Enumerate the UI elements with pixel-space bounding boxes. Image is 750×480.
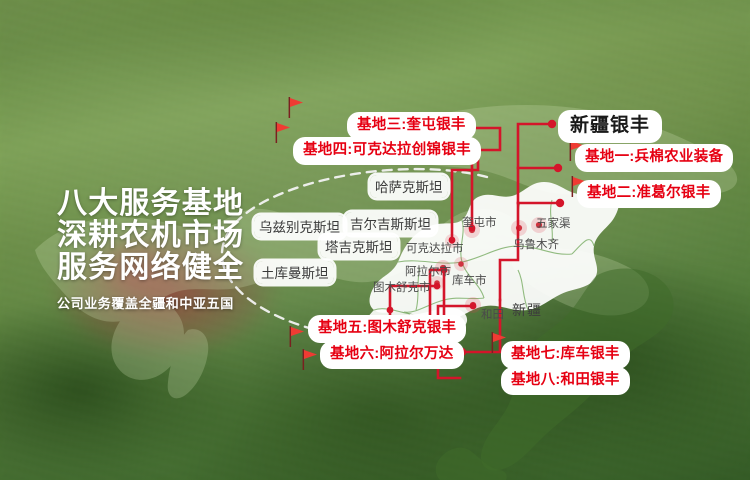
brand-root-label[interactable]: 新疆银丰 — [561, 113, 659, 140]
city-label-kuche: 库车市 — [452, 272, 487, 288]
base-label-base-3[interactable]: 基地三:奎屯银丰 — [350, 115, 473, 137]
city-label-kokdala: 可克达拉市 — [406, 240, 464, 256]
base-label-base-6[interactable]: 基地六:阿拉尔万达 — [323, 344, 461, 366]
city-label-tumxuk: 图木舒克市 — [373, 279, 431, 295]
base-label-base-5[interactable]: 基地五:图木舒克银丰 — [311, 318, 463, 340]
flag-icon — [273, 121, 291, 143]
base-label-base-8[interactable]: 基地八:和田银丰 — [504, 370, 627, 392]
city-label-hotan: 和田 — [481, 306, 504, 322]
city-label-kuitun: 奎屯市 — [462, 214, 497, 230]
headline-line-3: 服务网络健全 — [57, 252, 244, 284]
base-label-base-7[interactable]: 基地七:库车银丰 — [504, 344, 627, 366]
headline-line-2: 深耕农机市场 — [57, 220, 244, 252]
flag-icon — [300, 348, 318, 370]
base-label-base-1[interactable]: 基地一:兵棉农业装备 — [578, 147, 730, 169]
base-label-base-4[interactable]: 基地四:可克达拉创锦银丰 — [296, 140, 478, 162]
base-label-base-2[interactable]: 基地二:准葛尔银丰 — [580, 183, 718, 205]
infographic-canvas: 八大服务基地 深耕农机市场 服务网络健全 公司业务覆盖全疆和中亚五国 新疆银丰 … — [0, 0, 750, 480]
city-label-urumqi: 乌鲁木齐 — [513, 236, 559, 252]
region-label-xinjiang: 新疆 — [512, 300, 542, 320]
country-label-kazakhstan: 哈萨克斯坦 — [370, 175, 448, 198]
city-label-wujiaqu: 五家渠 — [536, 215, 571, 231]
country-label-turkmenistan: 土库曼斯坦 — [256, 261, 334, 284]
headline-block: 八大服务基地 深耕农机市场 服务网络健全 公司业务覆盖全疆和中亚五国 — [57, 188, 244, 312]
flag-icon — [286, 96, 304, 118]
headline-subtitle: 公司业务覆盖全疆和中亚五国 — [57, 293, 244, 312]
city-label-aral: 阿拉尔市 — [405, 263, 451, 279]
headline-line-1: 八大服务基地 — [57, 188, 244, 220]
flag-icon — [287, 325, 305, 347]
country-label-kyrgyzstan: 吉尔吉斯斯坦 — [345, 212, 436, 235]
country-label-tajikistan: 塔吉克斯坦 — [320, 235, 398, 258]
